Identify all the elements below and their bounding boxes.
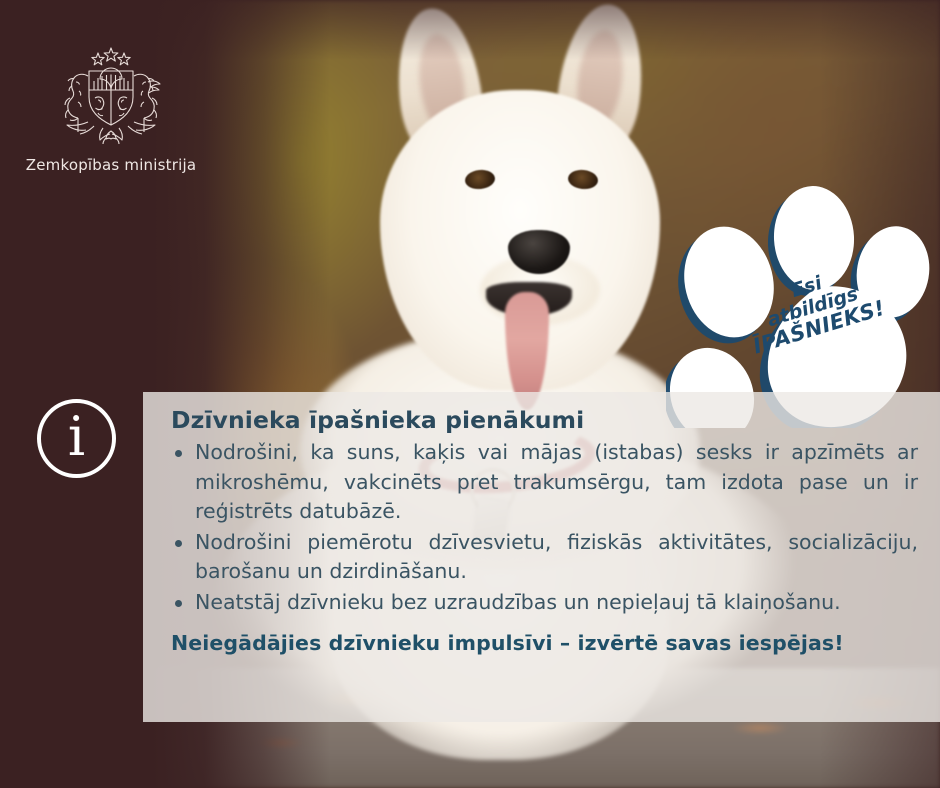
ministry-name: Zemkopības ministrija <box>22 156 200 174</box>
duties-panel: Dzīvnieka īpašnieka pienākumi Nodrošini,… <box>143 392 940 722</box>
panel-title: Dzīvnieka īpašnieka pienākumi <box>171 406 924 434</box>
paw-badge: Esi atbildīgs ĪPAŠNIEKS! <box>666 176 940 428</box>
duties-list: Nodrošini, ka suns, kaķis vai mājas (ist… <box>195 438 924 617</box>
latvian-coat-of-arms-icon <box>48 38 174 146</box>
ministry-logo: Zemkopības ministrija <box>22 38 200 174</box>
list-item: Neatstāj dzīvnieku bez uzraudzības un ne… <box>195 588 924 618</box>
information-icon: i <box>37 399 116 478</box>
list-item: Nodrošini, ka suns, kaķis vai mājas (ist… <box>195 438 924 527</box>
panel-footer: Neiegādājies dzīvnieku impulsīvi – izvēr… <box>171 631 924 655</box>
list-item: Nodrošini piemērotu dzīvesvietu, fiziskā… <box>195 528 924 587</box>
poster-root: Zemkopības ministrija Esi atbildīgs ĪPA <box>0 0 940 788</box>
information-icon-glyph: i <box>68 410 85 464</box>
